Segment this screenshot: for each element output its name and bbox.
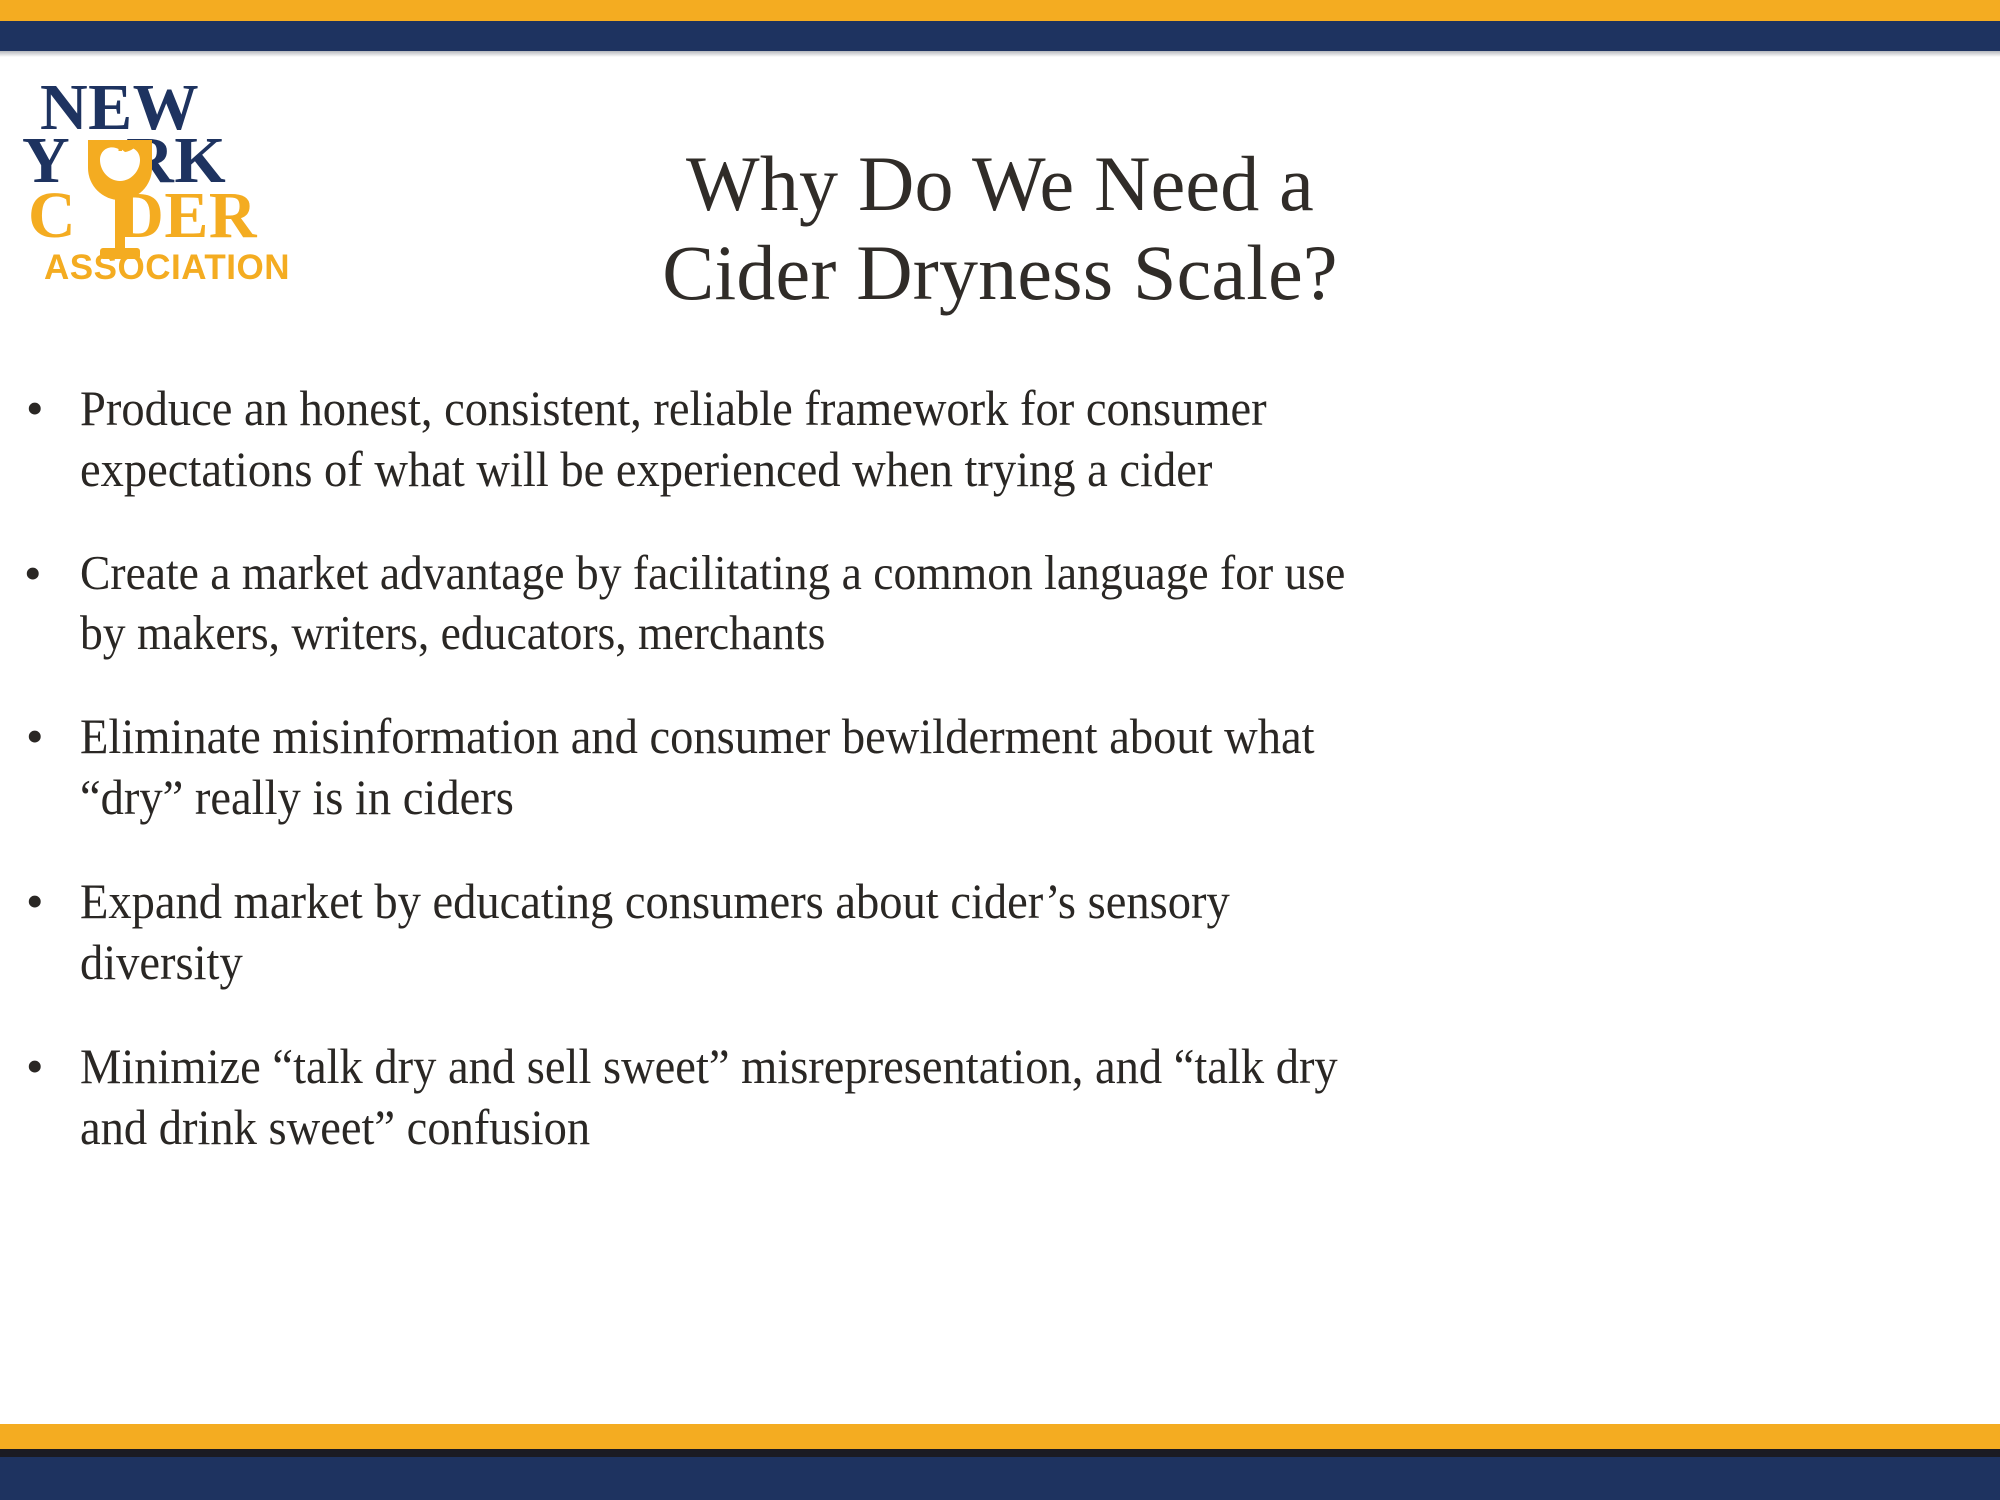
bullet-text: Create a market advantage by facilitatin… <box>80 543 1859 663</box>
bottom-navy-bar <box>0 1457 2000 1500</box>
bullet-line: Expand market by educating consumers abo… <box>80 871 1859 932</box>
list-item: • Minimize “talk dry and sell sweet” mis… <box>8 1036 1993 1158</box>
slide-title-line-2: Cider Dryness Scale? <box>330 229 1670 318</box>
bullet-line: diversity <box>80 932 1859 993</box>
logo-text-association: ASSOCIATION <box>44 248 290 288</box>
list-item: • Expand market by educating consumers a… <box>8 871 1993 993</box>
bullet-line: Produce an honest, consistent, reliable … <box>80 378 1859 439</box>
bullet-line: Minimize “talk dry and sell sweet” misre… <box>80 1036 1859 1097</box>
top-orange-bar <box>0 0 2000 21</box>
top-bar-shadow <box>0 51 2000 57</box>
bullet-marker-icon: • <box>8 543 80 604</box>
top-navy-bar <box>0 21 2000 51</box>
bullet-line: by makers, writers, educators, merchants <box>80 603 1859 663</box>
bullet-text: Minimize “talk dry and sell sweet” misre… <box>80 1036 1859 1158</box>
list-item: • Produce an honest, consistent, reliabl… <box>8 378 1993 500</box>
bullet-line: expectations of what will be experienced… <box>80 439 1859 500</box>
bullet-marker-icon: • <box>8 871 80 932</box>
bullet-list: • Produce an honest, consistent, reliabl… <box>8 378 1993 1201</box>
bullet-text: Expand market by educating consumers abo… <box>80 871 1859 993</box>
slide-title: Why Do We Need a Cider Dryness Scale? <box>330 140 1670 318</box>
bullet-marker-icon: • <box>8 378 80 439</box>
slide: NEW YRK CDER ASSOCIATION Why Do We Need … <box>0 0 2000 1500</box>
list-item: • Eliminate misinformation and consumer … <box>8 706 1993 828</box>
slide-title-line-1: Why Do We Need a <box>330 140 1670 229</box>
bullet-text: Produce an honest, consistent, reliable … <box>80 378 1859 500</box>
bullet-line: Eliminate misinformation and consumer be… <box>80 706 1859 767</box>
bullet-line: Create a market advantage by facilitatin… <box>80 543 1859 603</box>
bullet-marker-icon: • <box>8 1036 80 1097</box>
bottom-orange-bar <box>0 1424 2000 1451</box>
bullet-marker-icon: • <box>8 706 80 767</box>
bullet-line: “dry” really is in ciders <box>80 767 1859 828</box>
bullet-line: and drink sweet” confusion <box>80 1097 1859 1158</box>
bullet-text: Eliminate misinformation and consumer be… <box>80 706 1859 828</box>
list-item: • Create a market advantage by facilitat… <box>8 543 1993 663</box>
logo-cider-prefix: C <box>28 179 76 252</box>
cider-glass-apple-icon <box>80 134 160 262</box>
new-york-cider-association-logo: NEW YRK CDER ASSOCIATION <box>22 78 332 308</box>
